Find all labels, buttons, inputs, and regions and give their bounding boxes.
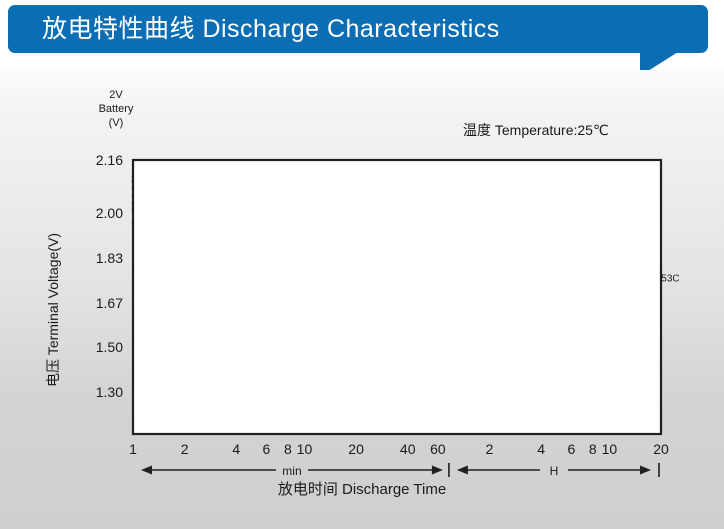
y-tick-label: 1.83: [96, 250, 123, 266]
x-tick-label: 10: [602, 441, 618, 457]
x-tick-label: 2: [181, 441, 189, 457]
y-tick-label: 1.50: [96, 339, 123, 355]
y-tick-labels: 2.162.001.831.671.501.30: [96, 152, 123, 400]
unit-axis-ruler: minH: [141, 463, 659, 478]
y-tick-label: 2.00: [96, 205, 123, 221]
header-banner: 放电特性曲线 Discharge Characteristics: [0, 0, 724, 70]
x-tick-label: 4: [232, 441, 240, 457]
x-tick-label: 6: [263, 441, 271, 457]
x-tick-label: 8: [589, 441, 597, 457]
axis-arrow-icon: [432, 466, 443, 475]
x-tick-label: 4: [537, 441, 545, 457]
axis-arrow-icon: [640, 466, 651, 475]
x-tick-label: 10: [297, 441, 313, 457]
unit-label-min: min: [282, 464, 301, 478]
page-title: 放电特性曲线 Discharge Characteristics: [42, 5, 500, 53]
axis-arrow-icon: [141, 466, 152, 475]
y-tick-label: 1.67: [96, 295, 123, 311]
x-tick-labels: 124681020406024681020: [129, 441, 669, 457]
x-tick-label: 20: [348, 441, 364, 457]
x-tick-label: 40: [400, 441, 416, 457]
x-tick-label: 60: [430, 441, 446, 457]
x-tick-label: 20: [653, 441, 669, 457]
x-tick-label: 1: [129, 441, 137, 457]
unit-label-hour: H: [550, 464, 559, 478]
axis-arrow-icon: [457, 466, 468, 475]
x-tick-label: 2: [486, 441, 494, 457]
plot-frame: [133, 160, 661, 434]
discharge-curve-plot: 2.162.001.831.671.501.30 124681020406024…: [0, 70, 724, 529]
y-tick-label: 2.16: [96, 152, 123, 168]
x-tick-label: 6: [567, 441, 575, 457]
x-tick-label: 8: [284, 441, 292, 457]
chart-figure: 2V Battery (V) 温度 Temperature:25℃ 电压 Ter…: [0, 70, 724, 529]
y-tick-label: 1.30: [96, 384, 123, 400]
